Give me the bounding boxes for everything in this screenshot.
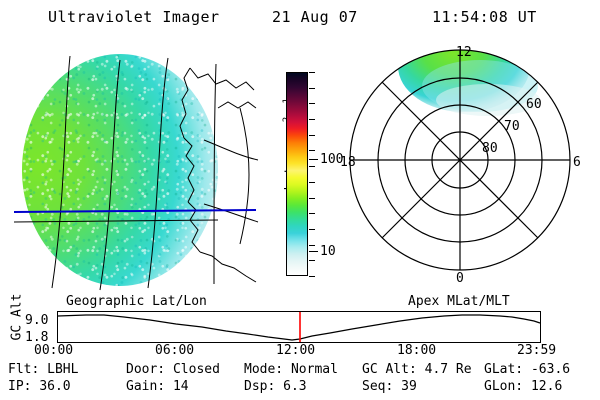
status-field: IP: 36.0 [8, 379, 71, 394]
time-tick-label: 12:00 [276, 344, 315, 357]
status-field-label: Door: [126, 362, 173, 377]
mlt-label: 6 [573, 156, 581, 169]
polar-plot-panel[interactable]: 126018 607080 [330, 44, 592, 294]
observation-time: 11:54:08 UT [432, 8, 537, 26]
equator-line [14, 220, 218, 222]
mlat-label: 80 [482, 142, 498, 155]
time-tick-label: 06:00 [155, 344, 194, 357]
colorbar-minor-tick [309, 213, 315, 214]
header-bar: Ultraviolet Imager 21 Aug 07 11:54:08 UT [0, 8, 600, 32]
status-field-label: GLon: [484, 379, 531, 394]
mlat-label: 70 [504, 120, 520, 133]
status-field-label: IP: [8, 379, 39, 394]
status-field-label: Mode: [244, 362, 291, 377]
status-field: Gain: 14 [126, 379, 189, 394]
geographic-overlay [8, 44, 260, 294]
status-field-value: 4.7 Re [425, 362, 472, 377]
mlt-label: 12 [456, 46, 472, 59]
colorbar-minor-tick [309, 276, 315, 277]
status-field-value: 14 [173, 379, 189, 394]
uvi-display: Ultraviolet Imager 21 Aug 07 11:54:08 UT [0, 0, 600, 400]
colorbar-minor-tick [309, 182, 315, 183]
time-tick-label: 18:00 [397, 344, 436, 357]
status-field-value: Closed [173, 362, 220, 377]
colorbar-minor-tick [309, 72, 315, 73]
terminator-line [14, 210, 256, 212]
mlat-label: 60 [526, 98, 542, 111]
status-field-label: Dsp: [244, 379, 283, 394]
status-field: GC Alt: 4.7 Re [362, 362, 472, 377]
status-field: Dsp: 6.3 [244, 379, 307, 394]
status-field: GLon: 12.6 [484, 379, 562, 394]
status-field-value: Normal [291, 362, 338, 377]
status-field-value: -63.6 [531, 362, 570, 377]
colorbar-minor-tick [309, 229, 315, 230]
colorbar-minor-tick [309, 166, 315, 167]
time-tick-label: 00:00 [34, 344, 73, 357]
status-field-value: LBHL [47, 362, 78, 377]
time-tick-label: 23:59 [517, 344, 556, 357]
colorbar-minor-tick [309, 245, 315, 246]
colorbar-major-tick [309, 251, 318, 252]
status-field-value: 12.6 [531, 379, 562, 394]
status-field: Door: Closed [126, 362, 220, 377]
colorbar-minor-tick [309, 198, 315, 199]
observation-date: 21 Aug 07 [272, 8, 358, 26]
status-field-value: 39 [401, 379, 417, 394]
polar-plot-graphics [330, 44, 592, 294]
status-field: GLat: -63.6 [484, 362, 570, 377]
geographic-image-panel[interactable] [8, 44, 260, 294]
mlt-label: 18 [340, 156, 356, 169]
colorbar-minor-tick [309, 119, 315, 120]
status-field: Flt: LBHL [8, 362, 78, 377]
mlt-label: 0 [456, 272, 464, 285]
colorbar-minor-tick [309, 103, 315, 104]
status-field-label: Seq: [362, 379, 401, 394]
colorbar-gradient [287, 73, 307, 275]
status-field-label: Flt: [8, 362, 47, 377]
status-field-value: 36.0 [39, 379, 70, 394]
colorbar-minor-tick [309, 260, 315, 261]
status-field-label: GLat: [484, 362, 531, 377]
status-field-label: GC Alt: [362, 362, 425, 377]
status-field: Seq: 39 [362, 379, 417, 394]
status-field: Mode: Normal [244, 362, 338, 377]
colorbar-scale[interactable] [286, 72, 308, 276]
instrument-title: Ultraviolet Imager [48, 8, 220, 26]
colorbar-minor-tick [309, 88, 315, 89]
status-block: Flt: LBHLDoor: ClosedMode: NormalGC Alt:… [0, 362, 600, 398]
status-field-value: 6.3 [283, 379, 306, 394]
status-field-label: Gain: [126, 379, 173, 394]
colorbar-minor-tick [309, 150, 315, 151]
colorbar-minor-tick [309, 135, 315, 136]
colorbar-major-tick [309, 159, 318, 160]
orbit-strip-panel[interactable]: Geographic Lat/Lon Apex MLat/MLT GC Alt … [0, 294, 600, 356]
